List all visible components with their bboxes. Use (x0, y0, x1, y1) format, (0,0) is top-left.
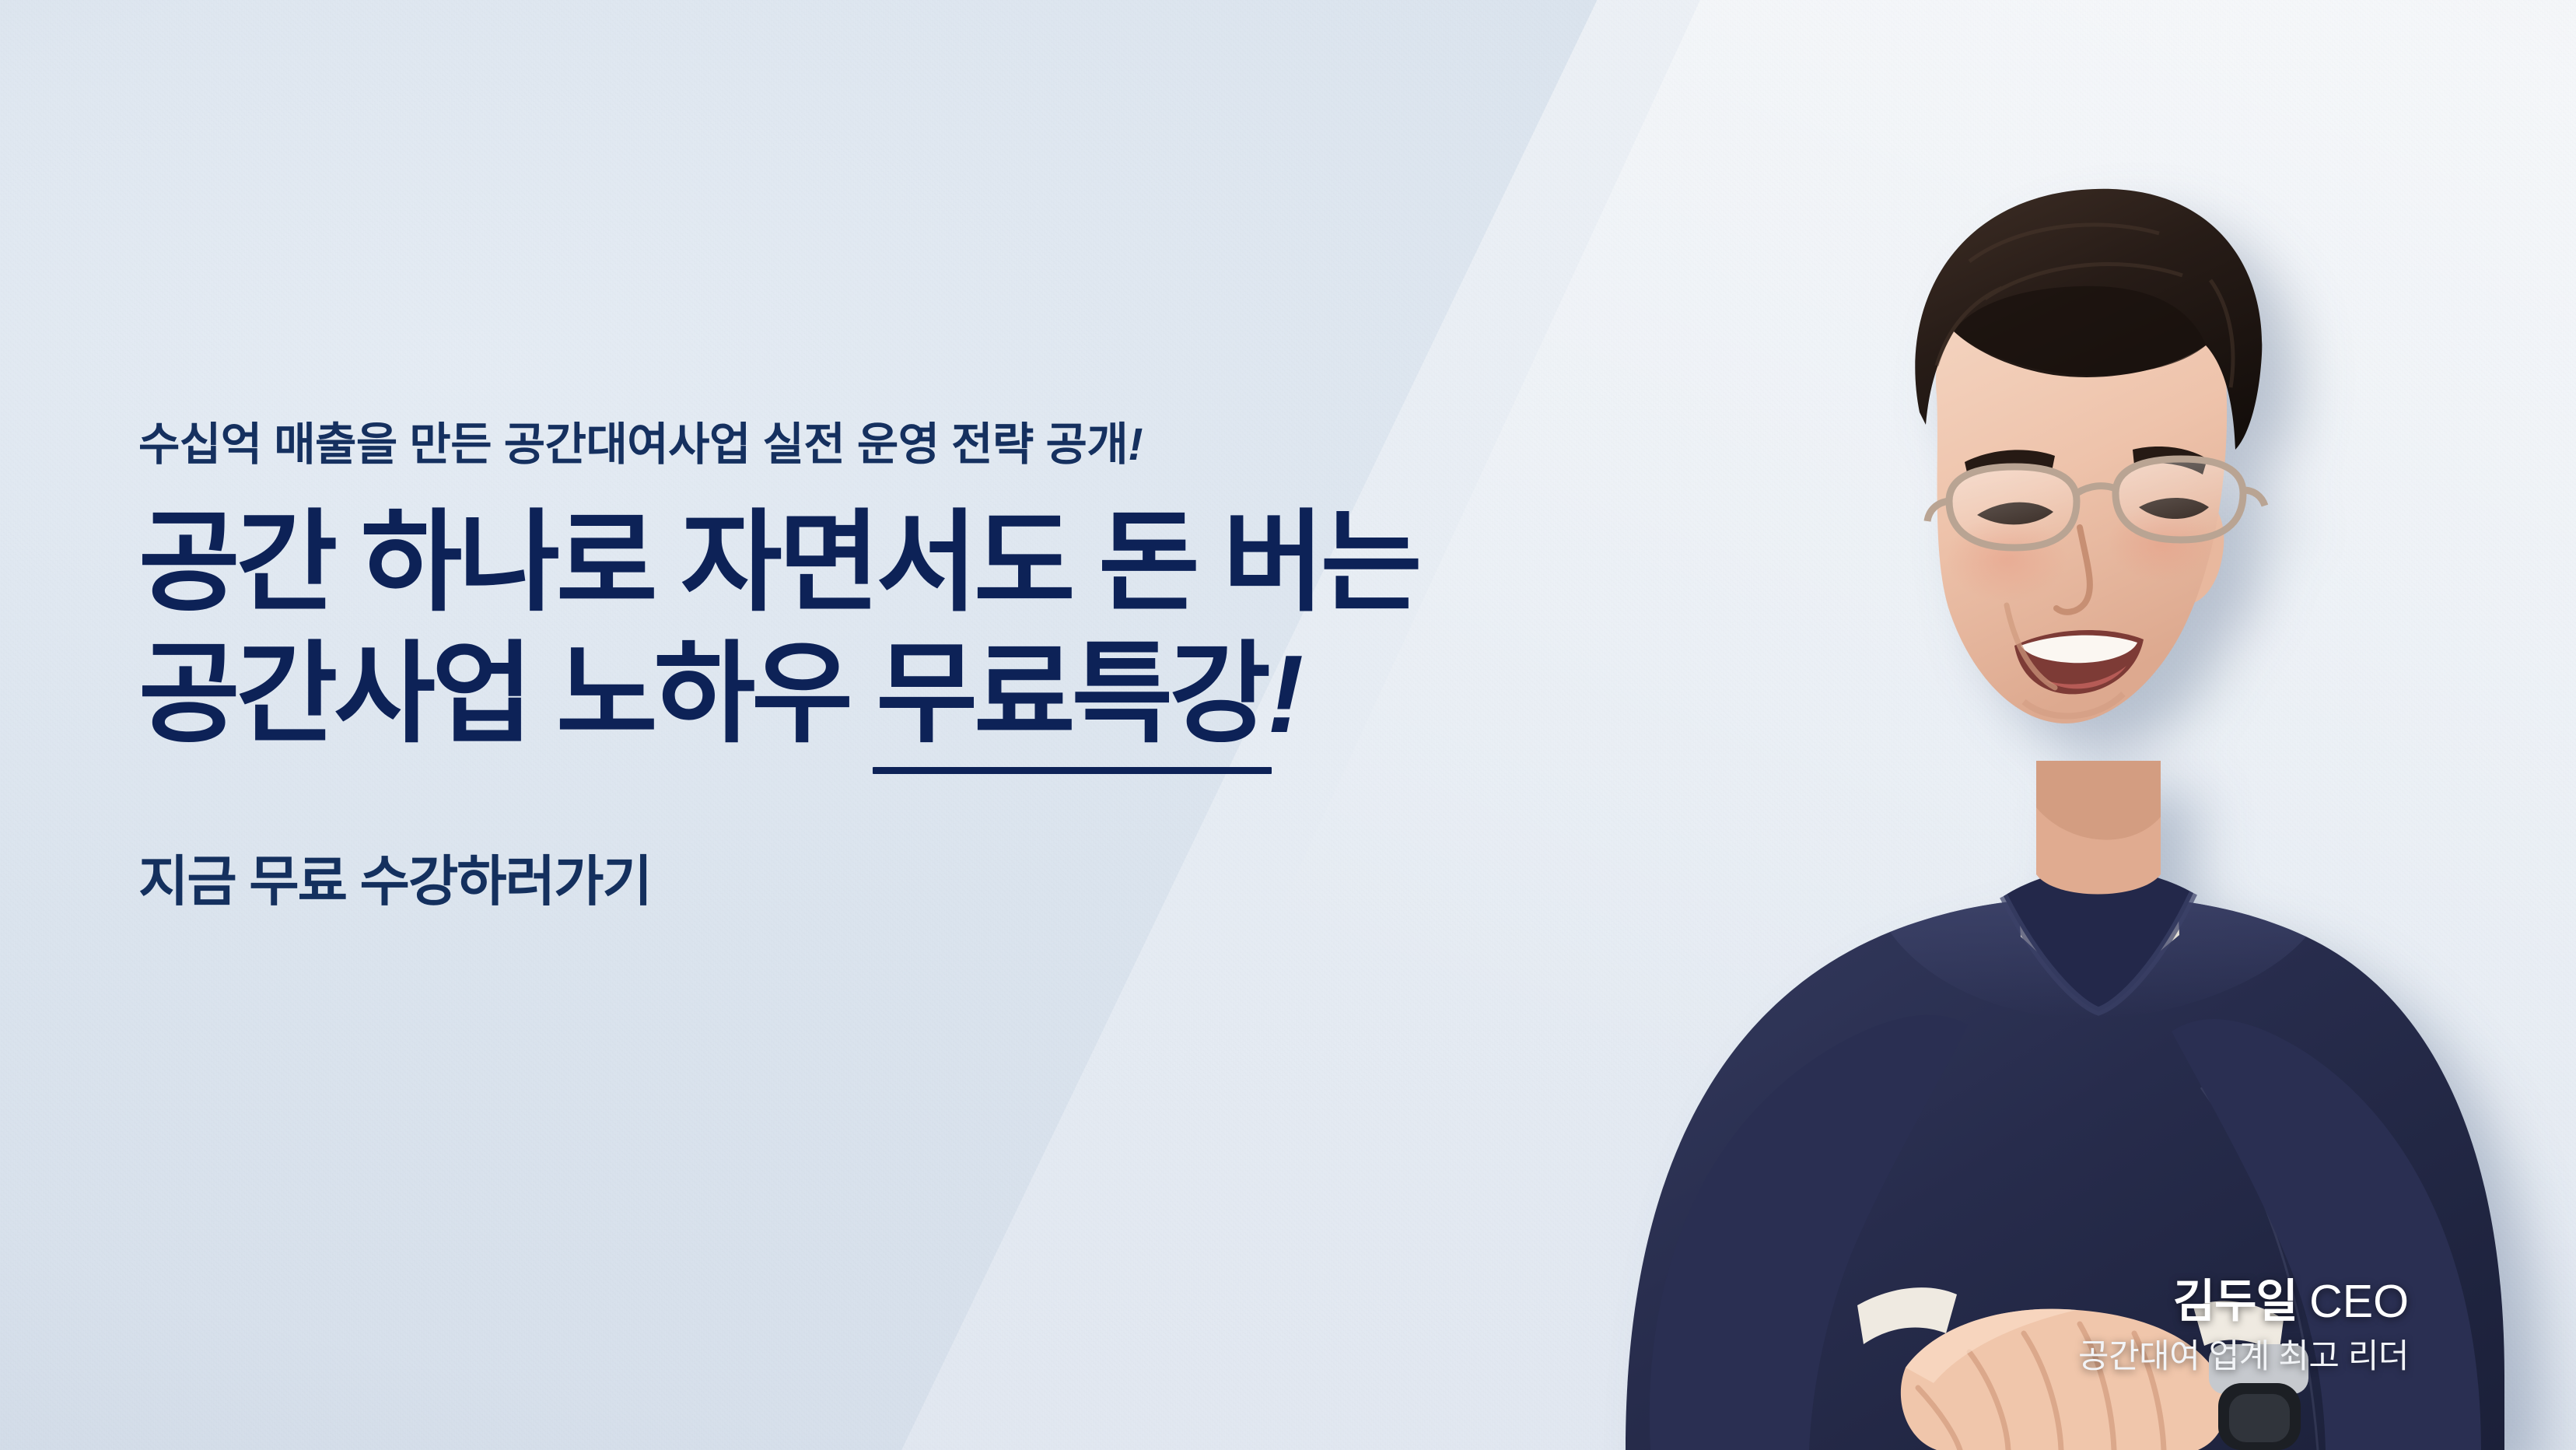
speaker-name: 김두일 (2173, 1276, 2298, 1327)
speaker-photo (1392, 61, 2504, 1450)
promo-banner: 수십억 매출을 만든 공간대여사업 실전 운영 전략 공개! 공간 하나로 자면… (0, 0, 2576, 1450)
cta-label: 지금 무료 수강하러가기 (138, 851, 651, 912)
eyebrow-exclamation: ! (1128, 419, 1143, 470)
headline-emphasis-underlined: 무료특강 (876, 632, 1267, 756)
speaker-caption: 김두일 CEO 공간대여 업계 최고 리더 (2078, 1276, 2409, 1377)
speaker-name-line: 김두일 CEO (2078, 1276, 2409, 1328)
speaker-tagline: 공간대여 업계 최고 리더 (2078, 1337, 2409, 1377)
speaker-portrait-illustration (1392, 61, 2504, 1450)
headline-exclamation: ! (1267, 632, 1300, 756)
speaker-head (1915, 189, 2265, 723)
speaker-photo-cutout (1392, 61, 2504, 1450)
speaker-role: CEO (2309, 1276, 2409, 1327)
headline-line-2-plain: 공간사업 노하우 (138, 632, 876, 756)
eyebrow-label: 수십억 매출을 만든 공간대여사업 실전 운영 전략 공개 (138, 419, 1128, 470)
